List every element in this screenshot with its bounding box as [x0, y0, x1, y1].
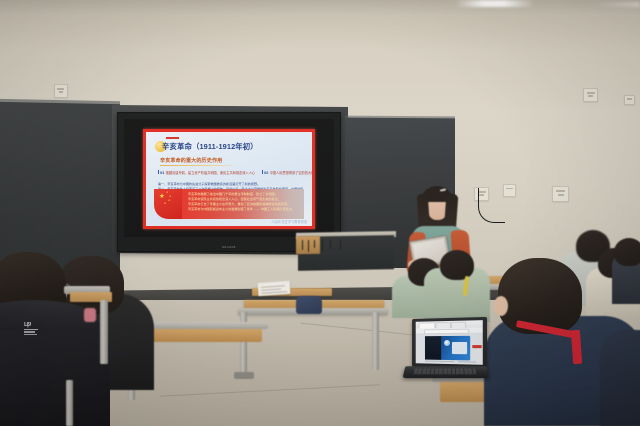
- podium-cables: [300, 240, 360, 252]
- slide-points: 01 推翻封建专制，建立资产阶级共和国，使民主共和观念深入人心 02 中国人民思…: [158, 170, 304, 175]
- desk-foot: [234, 372, 254, 379]
- point-marker-icon: [262, 170, 263, 174]
- flag-star-icon: ★: [168, 200, 170, 203]
- student-head: [614, 238, 640, 266]
- webpage-hero-image: [425, 336, 470, 361]
- ceiling-light-secondary-icon: [595, 2, 640, 7]
- slide-subtitle-underline: [160, 165, 240, 166]
- slide-title-row: 辛亥革命（1911-1912年初）: [155, 141, 258, 152]
- flag-star-icon: ★: [164, 203, 166, 206]
- laptop[interactable]: [404, 318, 488, 388]
- point-number: 02: [264, 170, 268, 175]
- jacket-back-print: Ц9: [24, 322, 44, 338]
- pink-item: [84, 308, 96, 322]
- laptop-keyboard-base[interactable]: [403, 366, 490, 378]
- laptop-lid: [412, 317, 487, 369]
- hero-logo-icon: [444, 340, 450, 346]
- backpack: [296, 296, 322, 314]
- ceiling: [0, 0, 640, 16]
- desk-leg: [66, 380, 73, 426]
- student-head: [440, 250, 474, 280]
- hero-content-card: [452, 342, 467, 354]
- point-marker-icon: [158, 170, 159, 174]
- desk-leg: [372, 312, 379, 370]
- webpage-text-line: [458, 361, 476, 362]
- papers-on-desk[interactable]: [258, 281, 291, 296]
- student-head-foreground: [498, 258, 582, 334]
- wall-socket[interactable]: [583, 88, 598, 102]
- slide-title: 辛亥革命（1911-1912年初）: [162, 141, 258, 152]
- display-brand-label: MAXHUB: [222, 246, 236, 249]
- ceiling-light-icon: [455, 0, 535, 7]
- jacket-hood: [0, 300, 90, 330]
- slide-accent-dash-icon: [166, 137, 179, 139]
- banner-line: 辛亥革命为中国民族资本主义的发展创造了条件 —— 中国工人阶级队伍壮大。: [188, 207, 300, 212]
- slide-subtitle: 辛亥革命的重大的历史作用: [160, 157, 240, 164]
- slide-point: 01 推翻封建专制，建立资产阶级共和国，使民主共和观念深入人心: [158, 170, 255, 175]
- desk-leg: [100, 300, 108, 364]
- laptop-screen[interactable]: [416, 320, 483, 365]
- slide-canvas: 辛亥革命（1911-1912年初） 辛亥革命的重大的历史作用 01 推翻封建专制…: [146, 132, 312, 226]
- display-screen: 辛亥革命（1911-1912年初） 辛亥革命的重大的历史作用 01 推翻封建专制…: [124, 119, 334, 237]
- flag-star-icon: ★: [159, 194, 165, 201]
- microphone-cable: [478, 188, 505, 223]
- presentation-slide: 辛亥革命（1911-1912年初） 辛亥革命的重大的历史作用 01 推翻封建专制…: [143, 129, 315, 229]
- webpage-red-button[interactable]: [472, 345, 481, 348]
- hero-dark-panel: [425, 336, 441, 360]
- classroom-photo: 辛亥革命（1911-1912年初） 辛亥革命的重大的历史作用 01 推翻封建专制…: [0, 0, 640, 426]
- interactive-display[interactable]: 辛亥革命（1911-1912年初） 辛亥革命的重大的历史作用 01 推翻封建专制…: [117, 112, 341, 252]
- point-text: 推翻封建专制，建立资产阶级共和国，使民主共和观念深入人心: [166, 170, 255, 175]
- point-text: 中国人民思想得到了空前的大解放，促进了社会经济的发展: [270, 170, 312, 175]
- flag-star-icon: ★: [166, 192, 168, 195]
- wall-socket[interactable]: [624, 95, 635, 105]
- slide-subtitle-wrap: 辛亥革命的重大的历史作用: [160, 157, 240, 166]
- wall-socket[interactable]: [552, 186, 569, 202]
- webpage-text-line: [425, 361, 454, 363]
- point-number: 01: [160, 170, 164, 175]
- slide-red-banner: ★ ★ ★ ★ ★ 辛亥革命推翻了统治中国几千年的君主专制制度，建立了共和国； …: [154, 189, 304, 219]
- wall-socket[interactable]: [54, 84, 68, 98]
- slide-watermark: 人民网 党史学习教育频道: [271, 219, 307, 224]
- browser-address-bar[interactable]: [424, 329, 469, 335]
- student-ear: [494, 296, 508, 316]
- slide-point: 02 中国人民思想得到了空前的大解放，促进了社会经济的发展: [262, 170, 312, 175]
- laptop-keyboard[interactable]: [414, 368, 477, 374]
- banner-text-block: 辛亥革命推翻了统治中国几千年的君主专制制度，建立了共和国； 辛亥革命使民主共和的…: [182, 189, 304, 219]
- student-torso-foreground: [600, 330, 640, 426]
